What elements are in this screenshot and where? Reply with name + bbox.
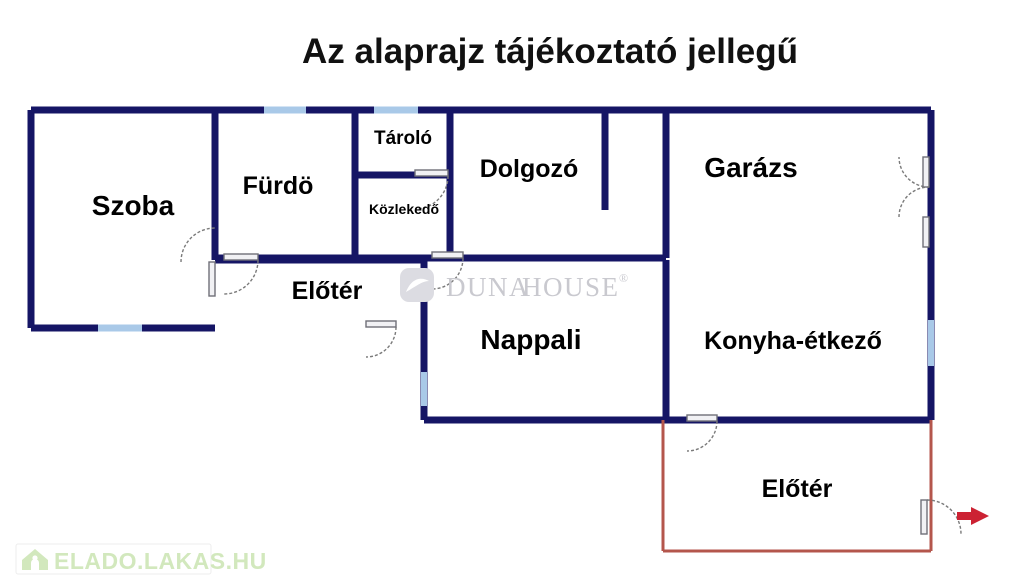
- watermark-brand-second: HOUSE: [522, 272, 620, 302]
- door-leaf: [923, 217, 929, 247]
- door-leaf: [923, 157, 929, 187]
- watermark-registered-mark: ®: [619, 271, 628, 285]
- room-label-kozlekedo: Közlekedő: [369, 201, 439, 217]
- floorplan-canvas: Az alaprajz tájékoztató jellegű SzobaFür…: [0, 0, 1024, 580]
- floorplan-page: Az alaprajz tájékoztató jellegű SzobaFür…: [0, 0, 1024, 580]
- door-leaf: [687, 415, 717, 421]
- room-label-nappali: Nappali: [480, 324, 581, 355]
- watermark-brand-first: DUNA: [446, 272, 530, 302]
- room-label-eloter-also: Előtér: [762, 475, 833, 503]
- door-leaf: [415, 170, 448, 176]
- room-label-szoba: Szoba: [92, 190, 175, 221]
- door-leaf: [224, 254, 258, 260]
- door-leaf: [432, 252, 463, 258]
- door-leaf: [921, 500, 927, 534]
- door-leaf: [209, 262, 215, 296]
- room-label-tarolo: Tároló: [374, 128, 432, 149]
- room-label-furdo: Fürdö: [243, 172, 314, 200]
- room-label-dolgozo: Dolgozó: [480, 155, 579, 183]
- room-label-konyha-etkezo: Konyha-étkező: [704, 327, 882, 355]
- badge-label: ELADO.LAKAS.HU: [54, 548, 267, 574]
- page-title: Az alaprajz tájékoztató jellegű: [302, 32, 798, 71]
- room-label-garazs: Garázs: [704, 152, 797, 183]
- door-leaf: [366, 321, 396, 327]
- elado-lakas-badge[interactable]: ELADO.LAKAS.HU: [16, 544, 267, 574]
- room-label-eloter-fo: Előtér: [292, 277, 363, 305]
